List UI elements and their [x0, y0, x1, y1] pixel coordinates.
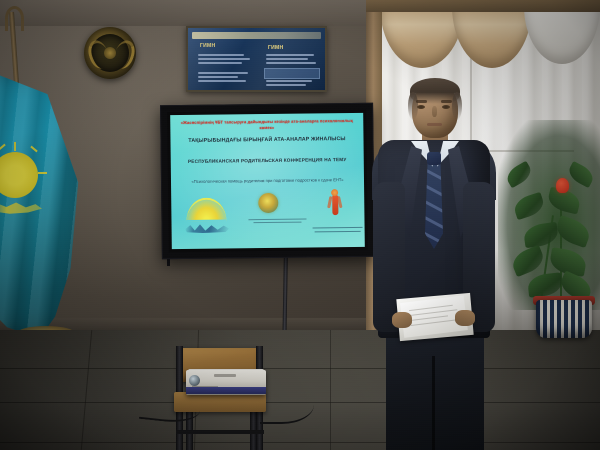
hand-right	[455, 310, 475, 326]
window-frame-top	[366, 0, 600, 12]
presenter-hair-side-right	[452, 92, 462, 120]
necktie	[425, 163, 443, 249]
trouser-seam	[432, 356, 435, 450]
potted-hibiscus-plant	[536, 300, 592, 338]
flag-finial-icon	[5, 6, 24, 31]
red-hibiscus-flower	[556, 178, 569, 193]
projection-screen[interactable]: «Жасөспірімнің ҰБТ тапсыруға дайындығы к…	[160, 103, 375, 260]
emblem-center-icon	[104, 47, 116, 59]
eyebrow-left	[416, 100, 427, 103]
presentation-slide: «Жасөспірімнің ҰБТ тапсыруға дайындығы к…	[170, 113, 365, 249]
presenter-trousers	[386, 330, 484, 450]
poster-glass-reflection	[188, 28, 325, 90]
floor-shading	[0, 330, 600, 450]
kazakhstan-logo-caption	[249, 218, 307, 219]
tie-knot	[427, 152, 441, 165]
orange-figure-logo	[329, 189, 340, 215]
figure-body	[332, 196, 338, 216]
projector-port-strip	[186, 387, 266, 394]
eye-left	[417, 105, 425, 109]
projector-lens	[189, 375, 200, 386]
eye-right	[442, 105, 450, 109]
flag-sun-ray	[38, 172, 47, 174]
kazakhstan-state-emblem-wall	[84, 27, 136, 79]
kazakhstan-state-emblem-logo	[258, 193, 278, 213]
photo-scene: ГИМН ГИМН «Жасөспірімнің ҰБТ тапсыруға д…	[0, 0, 600, 450]
anthem-wall-poster: ГИМН ГИМН	[186, 26, 327, 92]
eyebrow-right	[441, 100, 452, 103]
orange-logo-caption	[312, 227, 362, 228]
wall-top-strip	[0, 0, 372, 26]
flag-sun-ray	[14, 142, 16, 151]
chair-crossrail	[176, 430, 264, 434]
mouth	[427, 123, 442, 126]
slide-kazakh-red-title: «Жасөспірімнің ҰБТ тапсыруға дайындығы к…	[176, 118, 358, 131]
projector-label	[214, 374, 236, 377]
hand-left	[392, 312, 412, 328]
nose	[432, 106, 437, 117]
